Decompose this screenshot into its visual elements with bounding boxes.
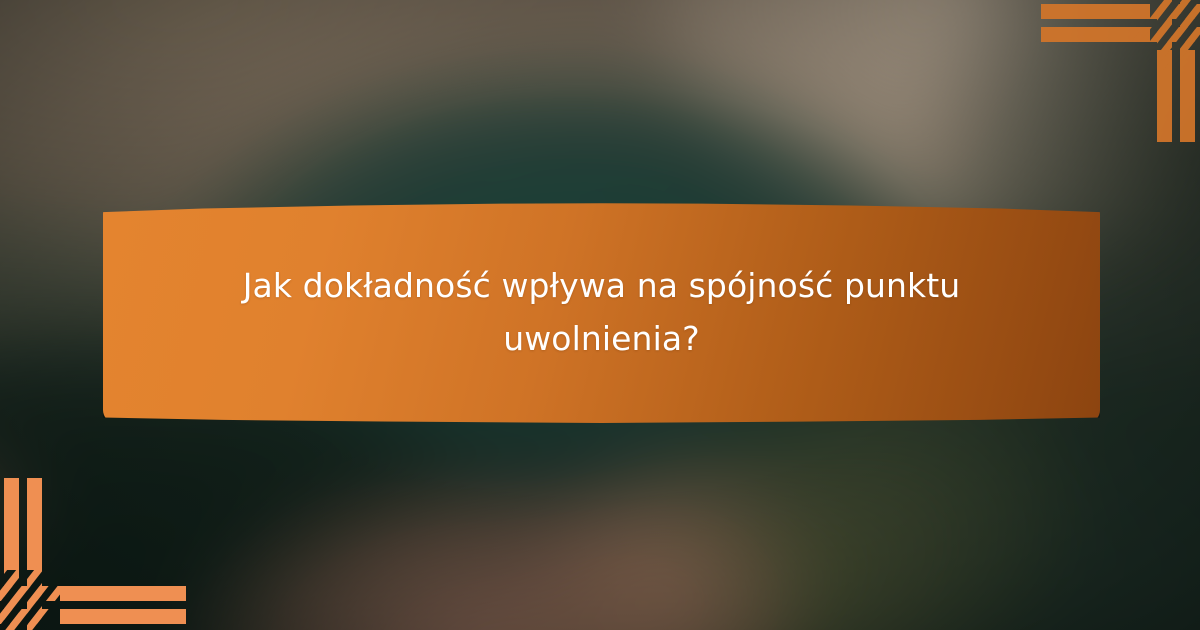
- quote-card-inner: Jak dokładność wpływa na spójność punktu…: [103, 259, 1100, 366]
- quote-card: Jak dokładność wpływa na spójność punktu…: [103, 201, 1100, 423]
- social-card-canvas: Jak dokładność wpływa na spójność punktu…: [0, 0, 1200, 630]
- quote-text: Jak dokładność wpływa na spójność punktu…: [165, 259, 1038, 366]
